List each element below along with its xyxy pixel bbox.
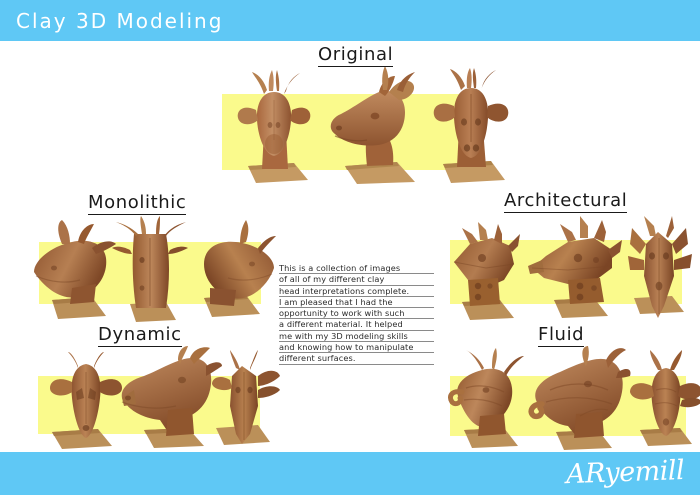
sculpture-photo-dynamic-3[interactable] bbox=[204, 350, 286, 450]
artist-statement: This is a collection of images of all of… bbox=[279, 263, 434, 365]
section-heading-dynamic: Dynamic bbox=[98, 324, 182, 347]
sculpture-photo-architectural-1[interactable] bbox=[448, 218, 536, 322]
sculpture-photo-original-1[interactable] bbox=[226, 70, 322, 184]
artist-signature: ARyemill bbox=[565, 455, 684, 490]
statement-line: head interpretations complete. bbox=[279, 286, 434, 297]
sculpture-photo-dynamic-1[interactable] bbox=[42, 352, 132, 452]
statement-line: of all of my different clay bbox=[279, 274, 434, 285]
photo-group-original bbox=[218, 66, 483, 184]
page-title: Clay 3D Modeling bbox=[16, 9, 223, 33]
poster-canvas: Clay 3D Modeling Original bbox=[0, 0, 700, 495]
sculpture-photo-fluid-2[interactable] bbox=[528, 346, 634, 454]
photo-group-architectural bbox=[448, 212, 700, 324]
statement-line: opportunity to work with such bbox=[279, 308, 434, 319]
statement-line: a different material. It helped bbox=[279, 319, 434, 330]
section-heading-original: Original bbox=[318, 44, 393, 67]
photo-group-dynamic bbox=[32, 346, 280, 452]
sculpture-photo-monolithic-2[interactable] bbox=[108, 216, 194, 324]
photo-group-monolithic bbox=[30, 216, 280, 324]
statement-line: I am pleased that I had the bbox=[279, 297, 434, 308]
sculpture-photo-original-2[interactable] bbox=[323, 66, 431, 184]
section-heading-fluid: Fluid bbox=[538, 324, 584, 347]
statement-line: and knowing how to manipulate bbox=[279, 342, 434, 353]
sculpture-photo-fluid-1[interactable] bbox=[446, 348, 540, 452]
statement-line: This is a collection of images bbox=[279, 263, 434, 274]
sculpture-photo-original-3[interactable] bbox=[423, 68, 519, 184]
sculpture-photo-fluid-3[interactable] bbox=[624, 350, 700, 452]
sculpture-photo-architectural-3[interactable] bbox=[616, 214, 700, 326]
section-heading-architectural: Architectural bbox=[504, 190, 627, 213]
section-heading-monolithic: Monolithic bbox=[88, 192, 186, 215]
statement-line: different surfaces. bbox=[279, 353, 434, 364]
photo-group-fluid bbox=[446, 346, 698, 454]
statement-line: me with my 3D modeling skills bbox=[279, 331, 434, 342]
sculpture-photo-monolithic-3[interactable] bbox=[188, 220, 278, 320]
